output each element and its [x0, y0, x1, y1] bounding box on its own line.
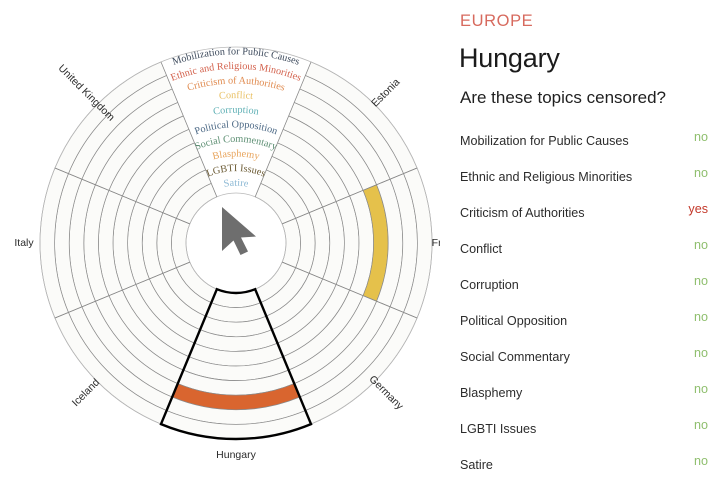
mouse-cursor-icon [222, 207, 256, 255]
country-label-estonia[interactable]: Estonia [369, 76, 402, 109]
topic-row[interactable]: Ethnic and Religious Minoritiesno [460, 164, 712, 200]
radial-chart-pane[interactable]: SatireLGBTI IssuesBlasphemySocial Commen… [0, 0, 440, 487]
topic-row[interactable]: Corruptionno [460, 272, 712, 308]
topic-name: Criticism of Authorities [460, 206, 585, 220]
radial-chart-svg[interactable]: SatireLGBTI IssuesBlasphemySocial Commen… [0, 0, 440, 487]
topic-row[interactable]: Conflictno [460, 236, 712, 272]
country-label-france[interactable]: France [432, 237, 440, 249]
topic-name: Mobilization for Public Causes [460, 134, 629, 148]
topic-row[interactable]: Blasphemyno [460, 380, 712, 416]
country-label-germany[interactable]: Germany [367, 373, 407, 413]
topic-answer-value: no [694, 382, 708, 396]
topic-row[interactable]: Political Oppositionno [460, 308, 712, 344]
topic-answer-value: no [694, 274, 708, 288]
topic-answer-value: no [694, 238, 708, 252]
censorship-explorer-app: SatireLGBTI IssuesBlasphemySocial Commen… [0, 0, 714, 487]
region-label: EUROPE [460, 12, 533, 31]
topic-arc-label: Conflict [219, 90, 254, 102]
country-label-united-kingdom[interactable]: United Kingdom [56, 62, 117, 123]
topic-answer-value: no [694, 418, 708, 432]
topic-name: Social Commentary [460, 350, 570, 364]
topic-answer-value: no [694, 310, 708, 324]
topic-name: LGBTI Issues [460, 422, 536, 436]
topic-name: Political Opposition [460, 314, 567, 328]
topic-name: Blasphemy [460, 386, 522, 400]
topic-row[interactable]: Criticism of Authoritiesyes [460, 200, 712, 236]
topic-row[interactable]: Social Commentaryno [460, 344, 712, 380]
topic-name: Corruption [460, 278, 519, 292]
country-info-panel: EUROPE Hungary Are these topics censored… [455, 0, 714, 487]
country-label-iceland[interactable]: Iceland [70, 376, 103, 409]
topic-row[interactable]: Mobilization for Public Causesno [460, 128, 712, 164]
topic-name: Ethnic and Religious Minorities [460, 170, 632, 184]
country-label-italy[interactable]: Italy [14, 237, 34, 249]
panel-question: Are these topics censored? [460, 88, 666, 108]
ring-cell[interactable] [282, 218, 300, 267]
topic-row[interactable]: Satireno [460, 452, 712, 488]
topic-name: Satire [460, 458, 493, 472]
topic-answer-value: no [694, 130, 708, 144]
topic-name: Conflict [460, 242, 502, 256]
page-title: Hungary [459, 43, 560, 74]
topic-row[interactable]: LGBTI Issuesno [460, 416, 712, 452]
country-label-hungary[interactable]: Hungary [216, 449, 256, 461]
ring-cell[interactable] [171, 218, 189, 267]
topic-answer-value: no [694, 166, 708, 180]
topic-answer-value: yes [688, 202, 708, 216]
topic-arc-label: Satire [223, 178, 250, 190]
topic-answer-value: no [694, 454, 708, 468]
topic-answer-value: no [694, 346, 708, 360]
topic-answer-list: Mobilization for Public CausesnoEthnic a… [460, 128, 712, 488]
